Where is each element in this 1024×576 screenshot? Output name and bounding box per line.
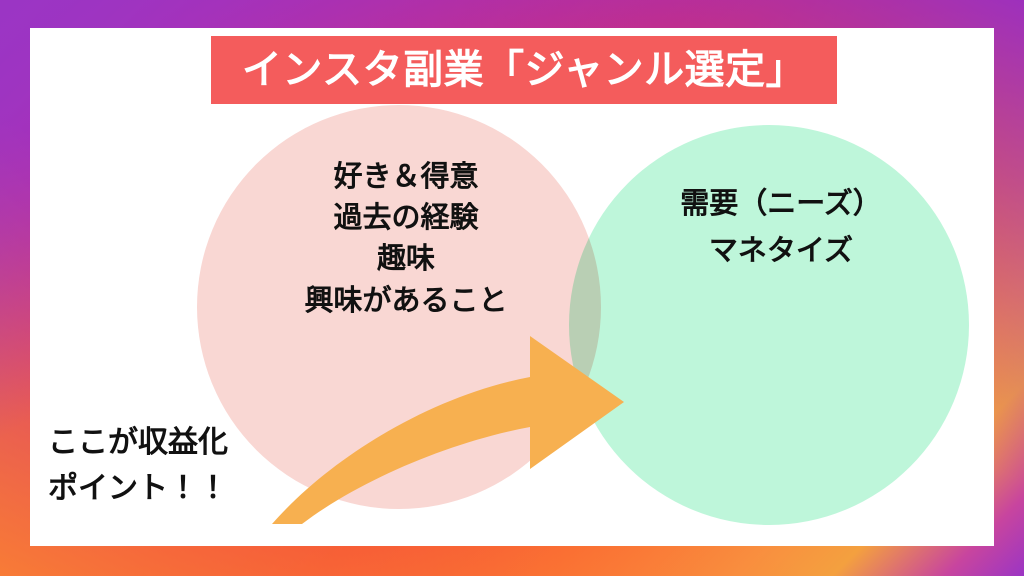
page-title: インスタ副業「ジャンル選定」: [242, 50, 806, 90]
left-circle-label-4: 興味があること: [250, 280, 562, 321]
right-circle-label-2: マネタイズ: [618, 227, 944, 274]
right-circle-label-1: 需要（ニーズ）: [618, 180, 944, 227]
left-circle-label-2: 過去の経験: [250, 197, 562, 238]
caption-line-2: ポイント！！: [48, 466, 318, 512]
caption-line-1: ここが収益化: [48, 420, 318, 466]
left-circle-label-group: 好き＆得意 過去の経験 趣味 興味があること: [250, 156, 562, 321]
caption-text: ここが収益化 ポイント！！: [48, 420, 318, 511]
left-circle-label-1: 好き＆得意: [250, 156, 562, 197]
slide-root: インスタ副業「ジャンル選定」 好き＆得意 過去の経験 趣味 興味があること 需要…: [0, 0, 1024, 576]
white-card: インスタ副業「ジャンル選定」 好き＆得意 過去の経験 趣味 興味があること 需要…: [30, 28, 994, 546]
left-circle-label-3: 趣味: [250, 238, 562, 279]
right-circle-label-group: 需要（ニーズ） マネタイズ: [618, 180, 944, 274]
title-banner: インスタ副業「ジャンル選定」: [211, 36, 837, 104]
